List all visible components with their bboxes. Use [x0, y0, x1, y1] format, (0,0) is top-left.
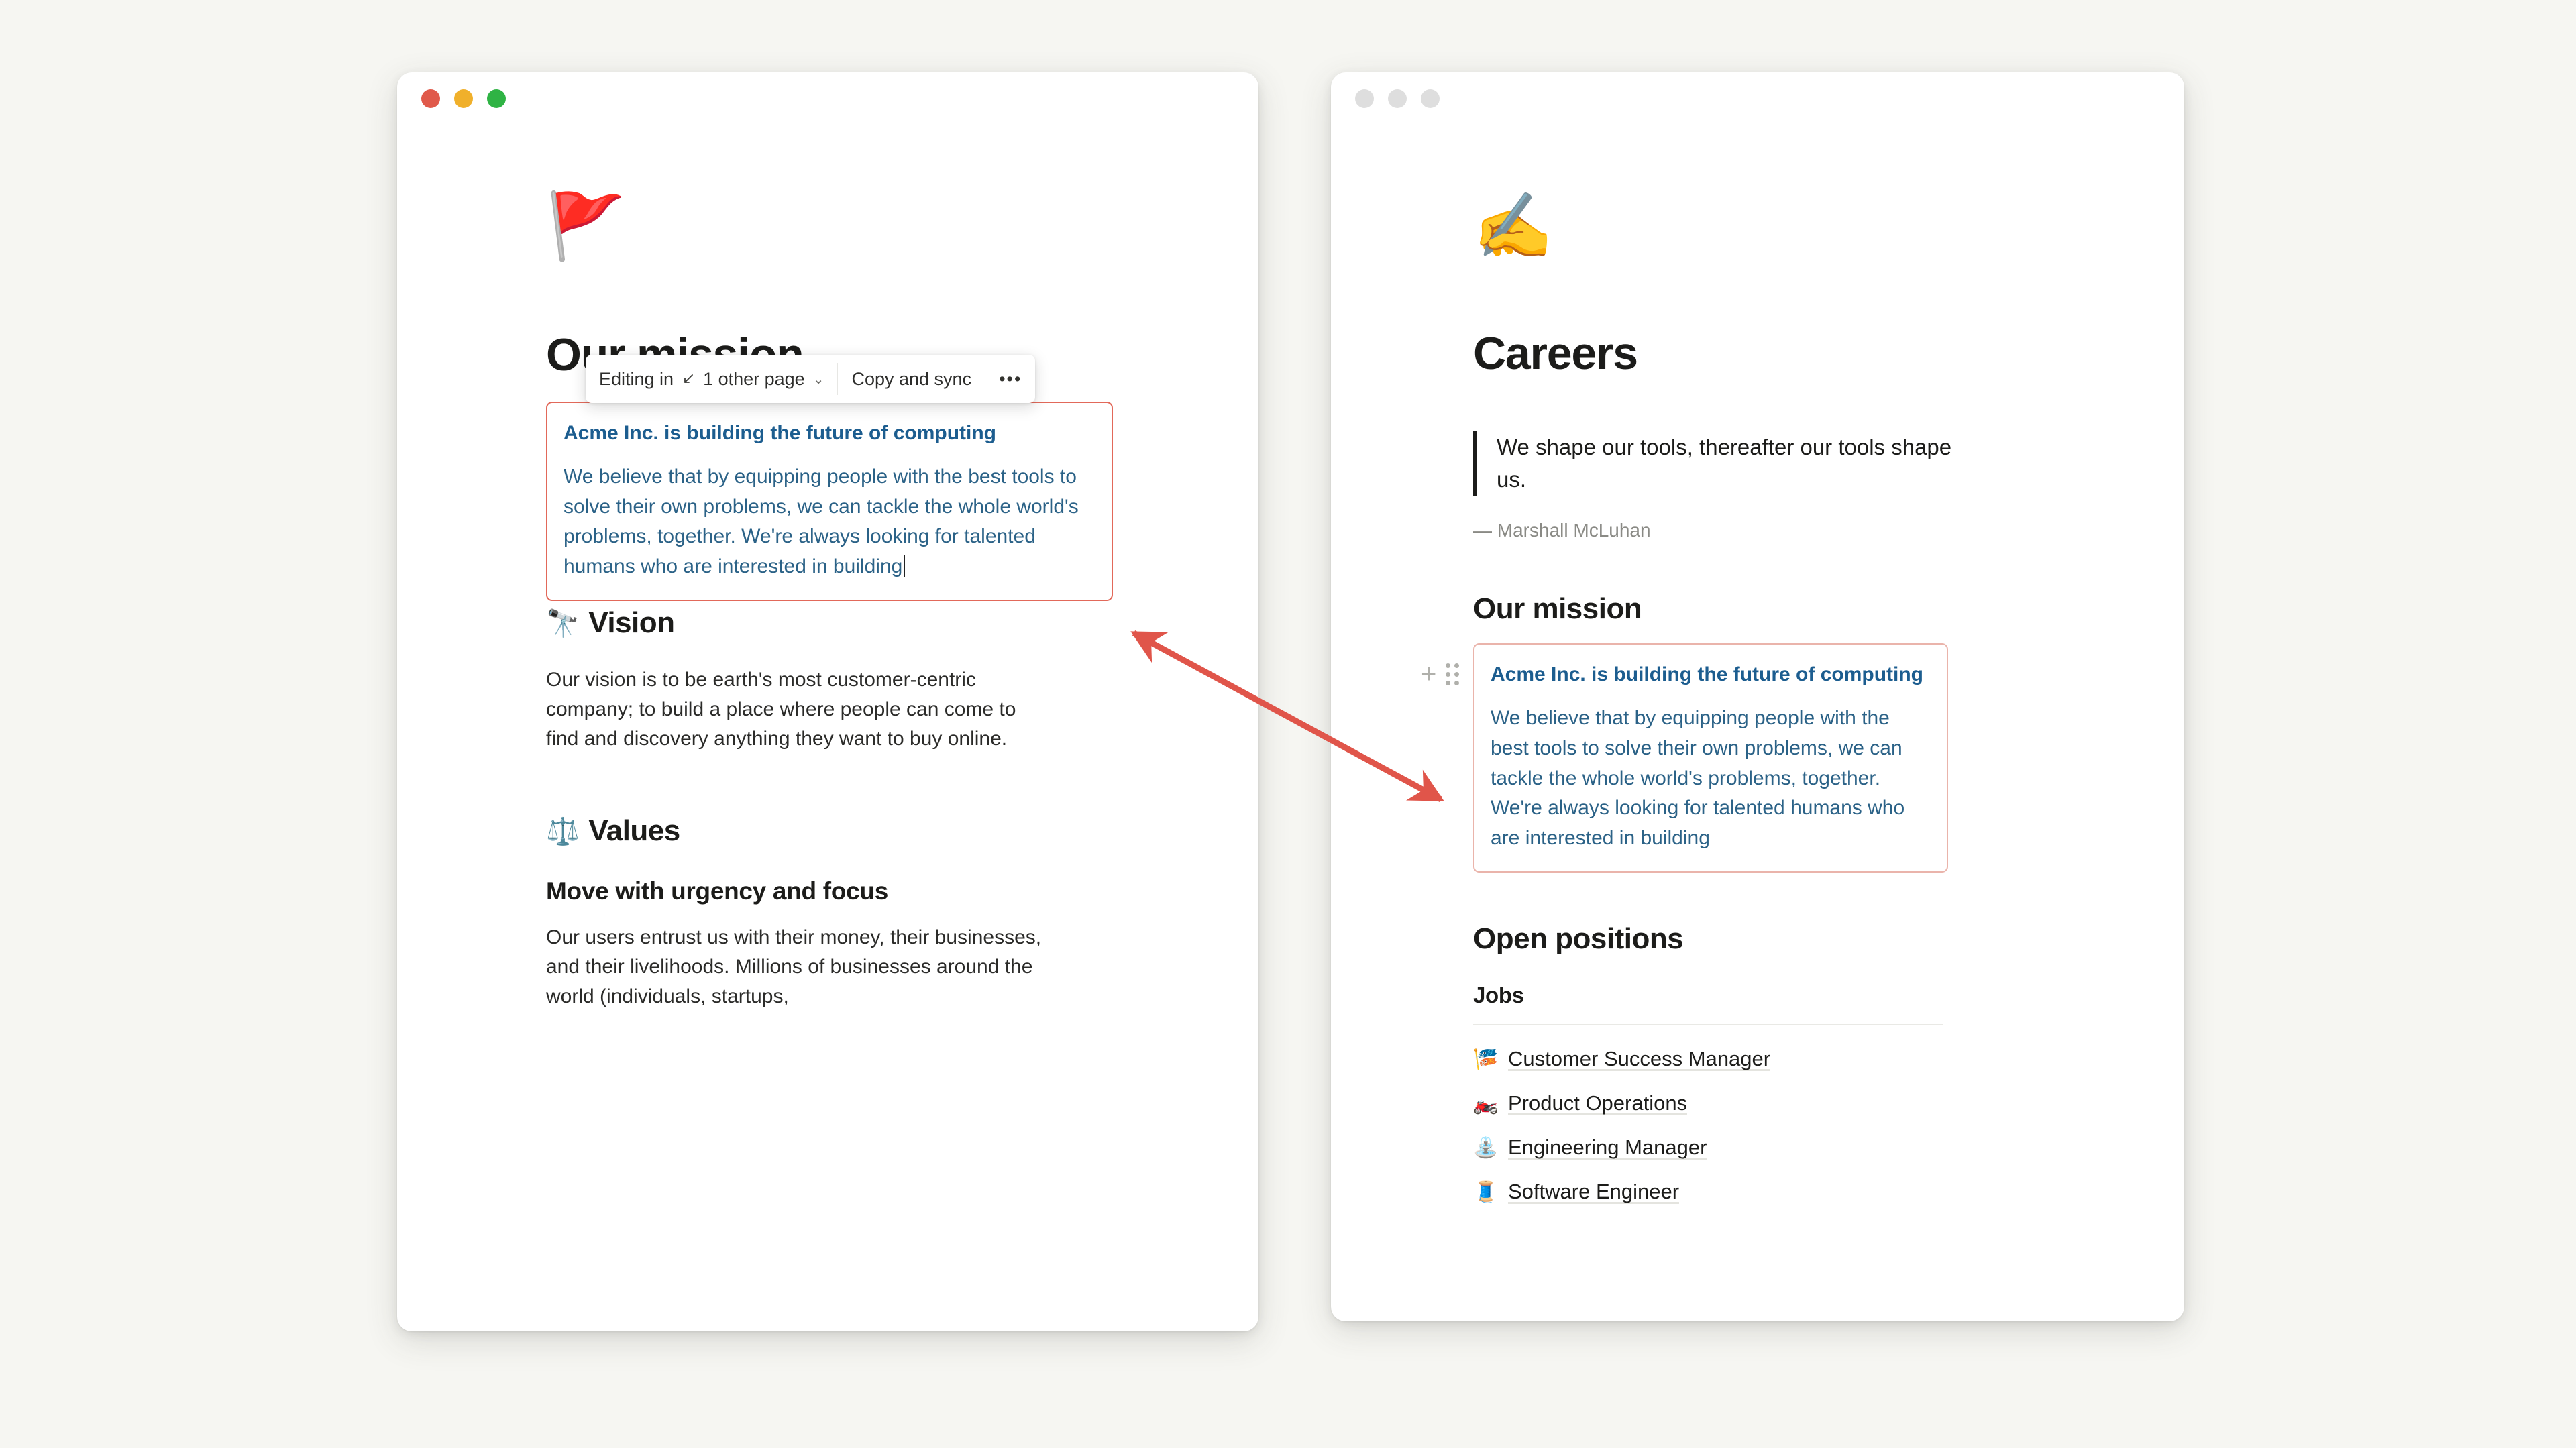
minimize-button[interactable] [1388, 89, 1407, 108]
triangular-flag-icon[interactable]: 🚩 [546, 194, 1258, 259]
page-careers: ✍️ Careers We shape our tools, thereafte… [1331, 125, 2184, 1321]
other-pages-count: 1 other page [703, 369, 805, 390]
ellipsis-icon: ••• [999, 369, 1022, 390]
close-button[interactable] [1355, 89, 1374, 108]
window-our-mission[interactable]: 🚩 Our mission Editing in 1 other page ⌄ … [397, 72, 1258, 1331]
jobs-list: 🎏 Customer Success Manager 🏍️ Product Op… [1473, 1047, 2184, 1205]
fountain-icon: ⛲ [1473, 1136, 1497, 1160]
chevron-down-icon: ⌄ [813, 371, 824, 388]
synced-block-wrapper: + Acme Inc. is building the future of co… [1473, 643, 1948, 872]
balance-scale-icon: ⚖️ [546, 816, 579, 847]
jobs-subheading[interactable]: Jobs [1473, 983, 2184, 1008]
editing-in-dropdown[interactable]: Editing in 1 other page ⌄ [586, 355, 837, 403]
our-mission-heading-label: Our mission [1473, 592, 1642, 626]
zoom-button[interactable] [1421, 89, 1440, 108]
section-heading-our-mission[interactable]: Our mission [1473, 592, 2184, 626]
section-heading-values[interactable]: ⚖️ Values [546, 814, 1123, 848]
jobs-divider [1473, 1024, 1943, 1025]
list-item[interactable]: 🎏 Customer Success Manager [1473, 1047, 2184, 1072]
titlebar-left [397, 72, 1258, 125]
writing-hand-icon[interactable]: ✍️ [1473, 194, 2184, 259]
vision-body[interactable]: Our vision is to be earth's most custome… [546, 665, 1042, 754]
vision-heading-label: Vision [588, 606, 674, 640]
text-caret [904, 555, 905, 577]
thread-spool-icon: 🧵 [1473, 1180, 1497, 1204]
list-item[interactable]: ⛲ Engineering Manager [1473, 1135, 2184, 1161]
synced-block-icon [680, 371, 696, 387]
synced-block-heading[interactable]: Acme Inc. is building the future of comp… [1491, 661, 1931, 689]
value-heading-urgency[interactable]: Move with urgency and focus [546, 877, 1123, 905]
sync-relationship-arrow [0, 0, 2576, 1448]
section-heading-open-positions[interactable]: Open positions [1473, 922, 2184, 956]
synced-block-body[interactable]: We believe that by equipping people with… [563, 462, 1094, 582]
synced-block-body[interactable]: We believe that by equipping people with… [1491, 704, 1931, 853]
job-link-product-operations[interactable]: Product Operations [1508, 1091, 1687, 1117]
job-link-engineering-manager[interactable]: Engineering Manager [1508, 1135, 1707, 1161]
page-our-mission: 🚩 Our mission Editing in 1 other page ⌄ … [397, 125, 1258, 1331]
page-title[interactable]: Careers [1473, 329, 2184, 379]
close-button[interactable] [421, 89, 440, 108]
value-body-urgency[interactable]: Our users entrust us with their money, t… [546, 923, 1076, 1011]
job-link-software-engineer[interactable]: Software Engineer [1508, 1180, 1679, 1205]
carp-streamer-icon: 🎏 [1473, 1048, 1497, 1071]
traffic-lights-left [421, 89, 506, 108]
more-options-button[interactable]: ••• [985, 355, 1035, 403]
synced-block-heading[interactable]: Acme Inc. is building the future of comp… [563, 419, 1094, 447]
synced-block-toolbar[interactable]: Editing in 1 other page ⌄ Copy and sync … [586, 355, 1035, 403]
telescope-icon: 🔭 [546, 608, 579, 639]
quote-attribution: — Marshall McLuhan [1473, 520, 2184, 541]
page-sections-left: 🔭 Vision Our vision is to be earth's mos… [546, 606, 1123, 1012]
traffic-lights-right [1355, 89, 1440, 108]
values-heading-label: Values [588, 814, 680, 848]
minimize-button[interactable] [454, 89, 473, 108]
add-block-button[interactable]: + [1421, 661, 1436, 687]
window-careers[interactable]: ✍️ Careers We shape our tools, thereafte… [1331, 72, 2184, 1321]
list-item[interactable]: 🧵 Software Engineer [1473, 1180, 2184, 1205]
motorcycle-icon: 🏍️ [1473, 1092, 1497, 1115]
synced-block-source[interactable]: Acme Inc. is building the future of comp… [546, 402, 1113, 601]
pull-quote[interactable]: We shape our tools, thereafter our tools… [1473, 431, 1966, 496]
quote-text: We shape our tools, thereafter our tools… [1497, 435, 1951, 492]
section-heading-vision[interactable]: 🔭 Vision [546, 606, 1123, 640]
open-positions-label: Open positions [1473, 922, 1683, 956]
zoom-button[interactable] [487, 89, 506, 108]
drag-handle[interactable] [1446, 663, 1459, 685]
synced-block-body-text: We believe that by equipping people with… [563, 465, 1079, 577]
titlebar-right [1331, 72, 2184, 125]
copy-and-sync-button[interactable]: Copy and sync [838, 355, 985, 403]
job-link-customer-success-manager[interactable]: Customer Success Manager [1508, 1047, 1770, 1072]
synced-block-mirror[interactable]: Acme Inc. is building the future of comp… [1473, 643, 1948, 872]
editing-in-label: Editing in [599, 369, 674, 390]
copy-and-sync-label: Copy and sync [851, 369, 971, 390]
block-handles: + [1421, 661, 1459, 687]
list-item[interactable]: 🏍️ Product Operations [1473, 1091, 2184, 1117]
